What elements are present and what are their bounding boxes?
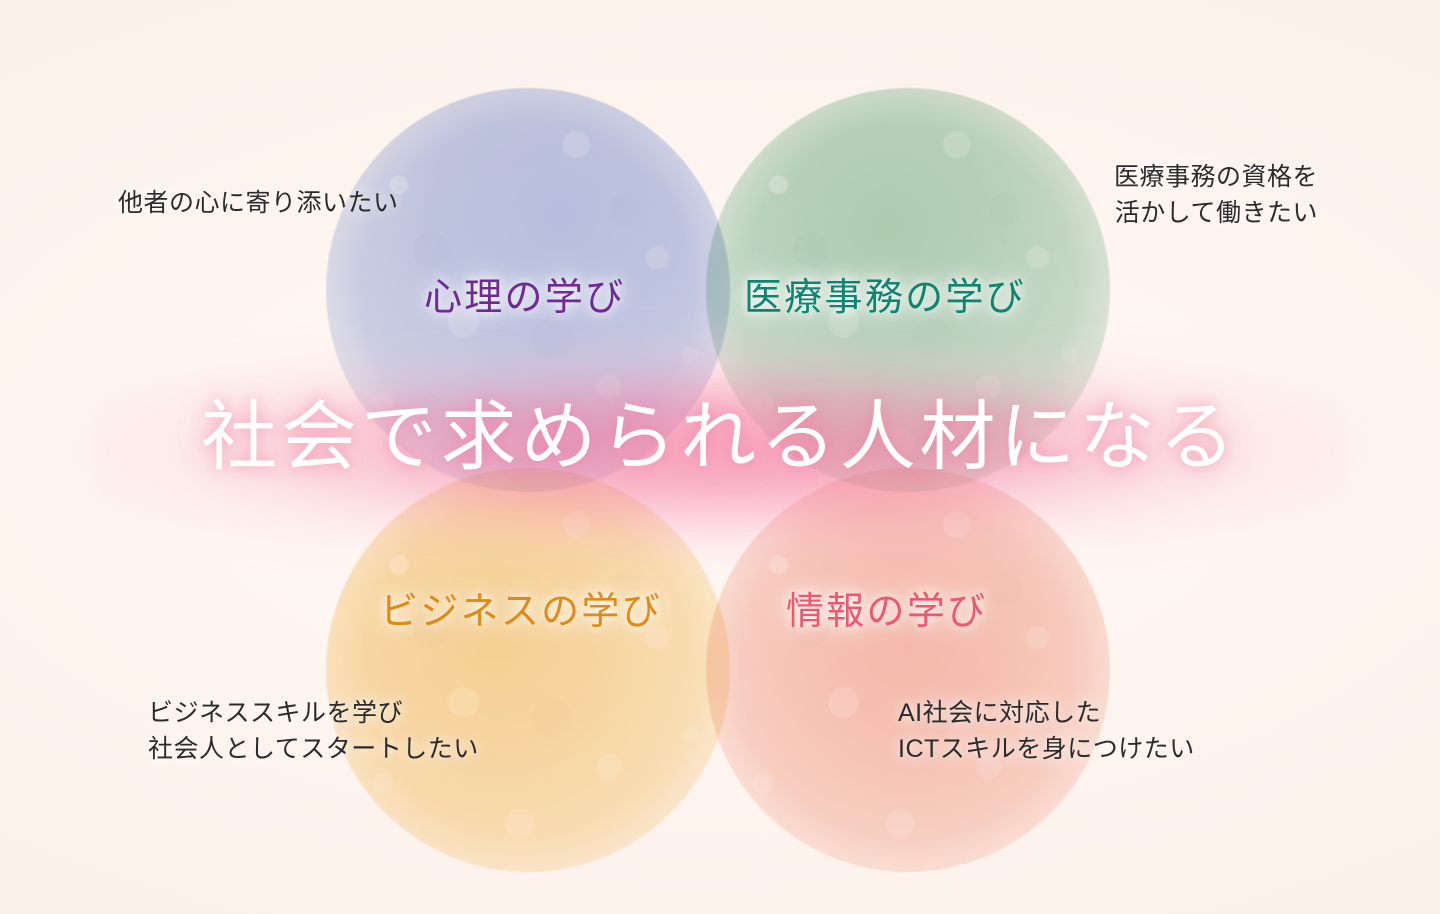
caption-joho: AI社会に対応した ICTスキルを身につけたい xyxy=(898,696,1195,767)
circle-business-edge-fade xyxy=(326,468,730,872)
circle-business xyxy=(326,468,730,872)
caption-business: ビジネススキルを学び 社会人としてスタートしたい xyxy=(148,696,479,767)
label-shinri: 心理の学び xyxy=(424,266,625,321)
circle-joho xyxy=(706,468,1110,872)
venn-diagram-stage: 他者の心に寄り添いたい 医療事務の資格を 活かして働きたい ビジネススキルを学び… xyxy=(0,0,1440,914)
page-headline: 社会で求められる人材になる xyxy=(0,398,1440,478)
label-business: ビジネスの学び xyxy=(380,580,662,635)
caption-iryo: 医療事務の資格を 活かして働きたい xyxy=(1114,160,1318,231)
caption-shinri: 他者の心に寄り添いたい xyxy=(118,186,399,222)
circle-joho-edge-fade xyxy=(706,468,1110,872)
label-joho: 情報の学び xyxy=(786,580,987,635)
label-iryo: 医療事務の学び xyxy=(744,266,1026,321)
